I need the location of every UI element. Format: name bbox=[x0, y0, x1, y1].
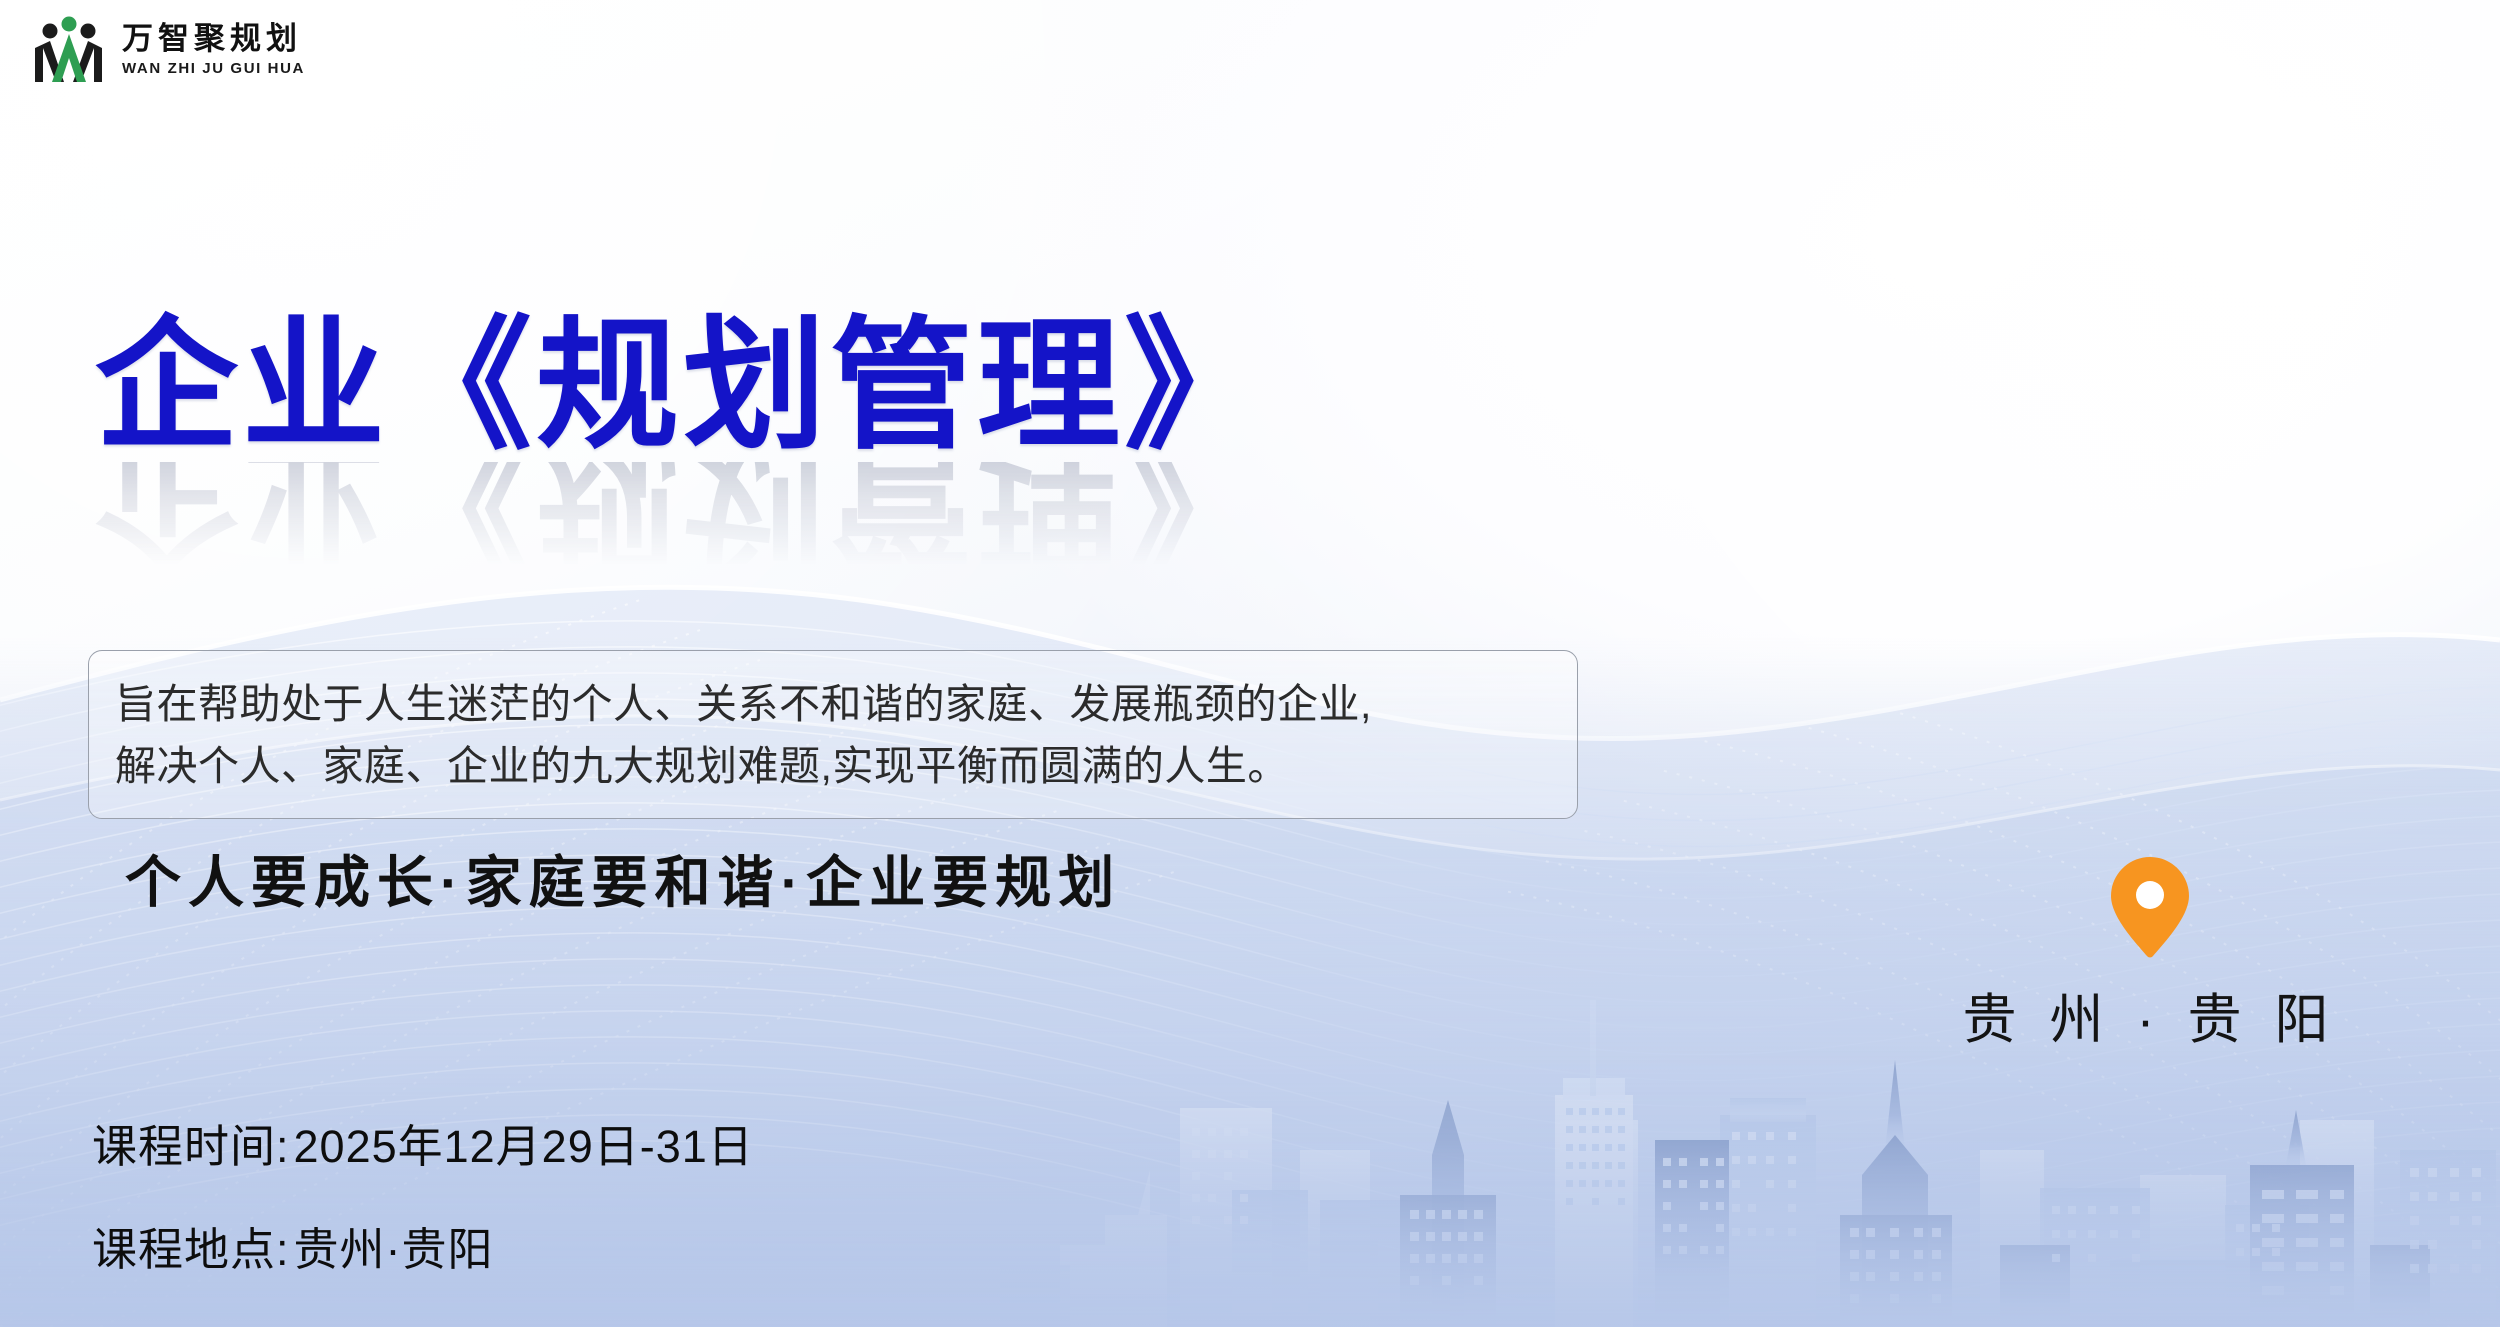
course-time-label: 课程时间: bbox=[92, 1110, 290, 1175]
page-title: 企业《规划管理》 bbox=[95, 315, 1271, 458]
course-place-value: 贵州·贵阳 bbox=[294, 1213, 494, 1278]
course-time-value: 2025年12月29日-31日 bbox=[294, 1110, 754, 1175]
course-place-label: 课程地点: bbox=[92, 1213, 290, 1278]
hero-title-block: 企业《规划管理》 企业《规划管理》 bbox=[95, 315, 1271, 574]
map-pin-icon bbox=[2108, 855, 2192, 959]
page-title-reflection: 企业《规划管理》 bbox=[95, 462, 1271, 574]
three-people-logo-icon bbox=[30, 14, 108, 86]
location-label: 贵 州 · 贵 阳 bbox=[1960, 975, 2340, 1054]
course-time-row: 课程时间: 2025年12月29日-31日 bbox=[92, 1110, 754, 1175]
description-line-1: 旨在帮助处于人生迷茫的个人、关系不和谐的家庭、发展瓶颈的企业, bbox=[115, 673, 1551, 735]
description-line-2: 解决个人、家庭、企业的九大规划难题,实现平衡而圆满的人生。 bbox=[115, 735, 1551, 797]
brand-name-pinyin: WAN ZHI JU GUI HUA bbox=[122, 60, 305, 77]
course-info-block: 课程时间: 2025年12月29日-31日 课程地点: 贵州·贵阳 bbox=[92, 1110, 754, 1278]
course-place-row: 课程地点: 贵州·贵阳 bbox=[92, 1213, 754, 1278]
slogan-text: 个人要成长·家庭要和谐·企业要规划 bbox=[125, 838, 1121, 919]
brand-name-cn: 万智聚规划 bbox=[122, 23, 305, 56]
poster-canvas: 万智聚规划 WAN ZHI JU GUI HUA 企业《规划管理》 企业《规划管… bbox=[0, 0, 2500, 1327]
location-block: 贵 州 · 贵 阳 bbox=[1960, 855, 2340, 1054]
description-box: 旨在帮助处于人生迷茫的个人、关系不和谐的家庭、发展瓶颈的企业, 解决个人、家庭、… bbox=[88, 650, 1578, 819]
brand-logo[interactable]: 万智聚规划 WAN ZHI JU GUI HUA bbox=[30, 14, 305, 86]
